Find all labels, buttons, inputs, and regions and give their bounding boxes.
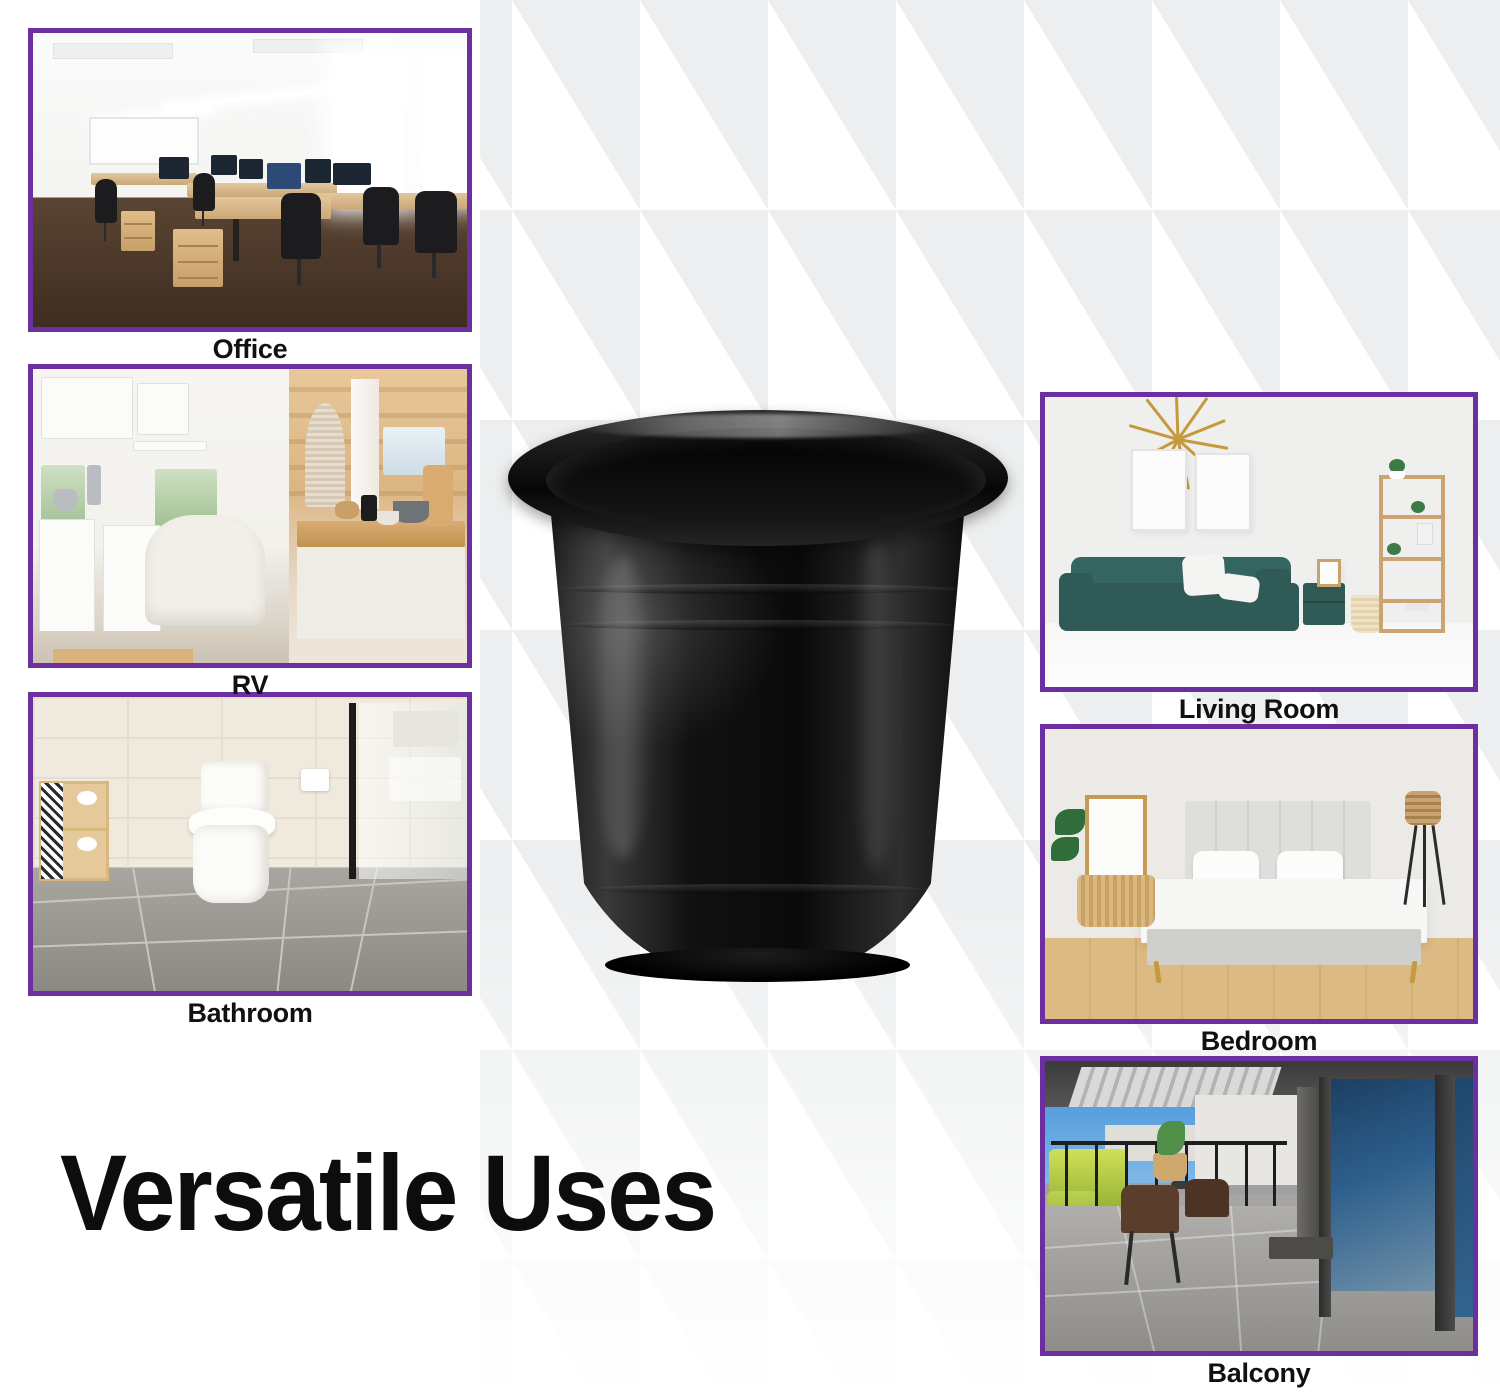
caption-rv: RV	[28, 670, 472, 701]
image-panel-rv	[28, 364, 472, 668]
image-panel-balcony	[1040, 1056, 1478, 1356]
bathroom-scene-illustration	[33, 697, 467, 991]
wastebasket-base	[605, 948, 910, 982]
image-panel-bedroom	[1040, 724, 1478, 1024]
wastebasket-highlight-left	[592, 558, 654, 858]
wastebasket-rib-lower	[592, 884, 922, 894]
image-panel-bathroom	[28, 692, 472, 996]
caption-bedroom: Bedroom	[1040, 1026, 1478, 1057]
wastebasket-interior	[546, 428, 986, 532]
caption-living-room: Living Room	[1040, 694, 1478, 725]
page-title: Versatile Uses	[60, 1136, 715, 1249]
rv-scene-illustration	[33, 369, 467, 663]
caption-office: Office	[28, 334, 472, 365]
wastebasket-rim-highlight	[570, 414, 950, 438]
caption-bathroom: Bathroom	[28, 998, 472, 1029]
balcony-scene-illustration	[1045, 1061, 1473, 1351]
bedroom-scene-illustration	[1045, 729, 1473, 1019]
product-image-wastebasket	[500, 388, 1015, 988]
image-panel-office	[28, 28, 472, 332]
living-room-scene-illustration	[1045, 397, 1473, 687]
office-scene-illustration	[33, 33, 467, 327]
image-panel-living-room	[1040, 392, 1478, 692]
wastebasket-highlight-right	[852, 538, 900, 868]
caption-balcony: Balcony	[1040, 1358, 1478, 1389]
